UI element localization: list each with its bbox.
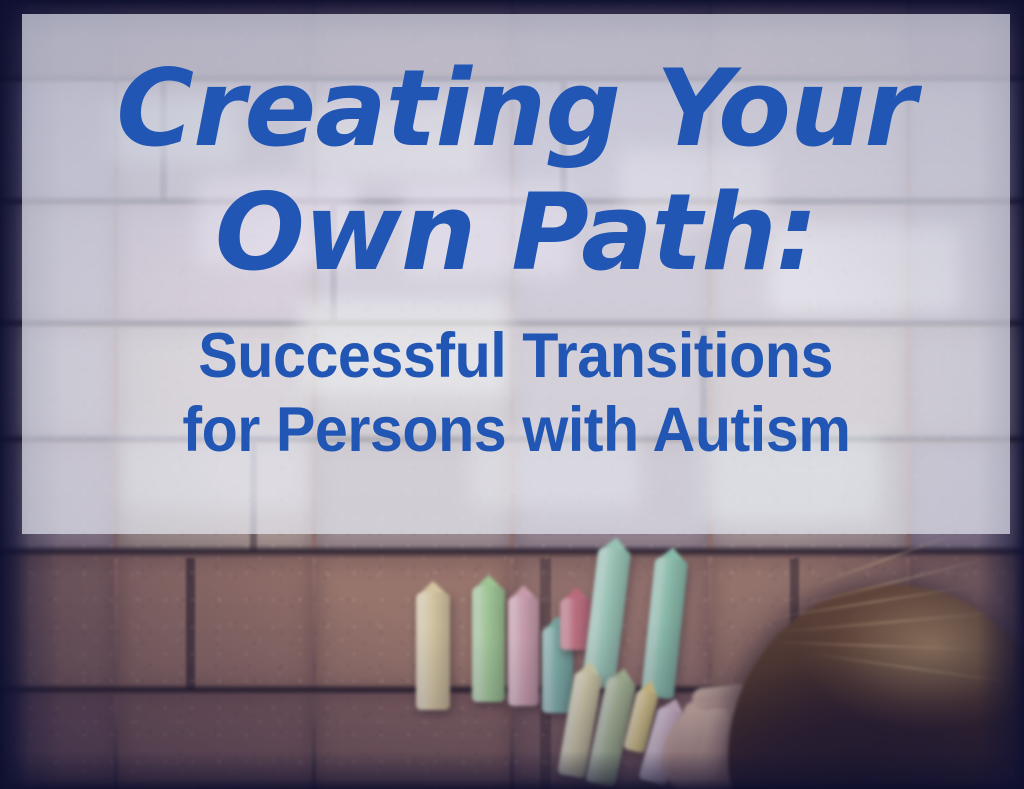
- title-slide: Creating Your Own Path: Successful Trans…: [0, 0, 1024, 789]
- subtitle-line-2: for Persons with Autism: [182, 398, 850, 462]
- title-overlay-panel: Creating Your Own Path: Successful Trans…: [22, 14, 1010, 534]
- title-line-2: Own Path:: [215, 182, 817, 284]
- subtitle-line-1: Successful Transitions: [199, 324, 834, 388]
- title-line-1: Creating Your: [116, 58, 915, 160]
